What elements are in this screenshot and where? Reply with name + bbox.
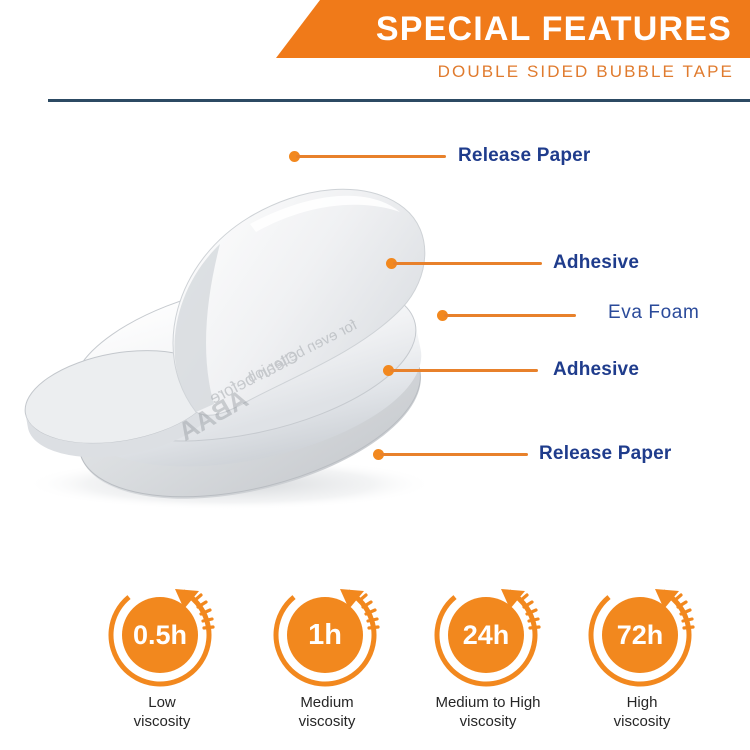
header-banner: SPECIAL FEATURES <box>276 0 750 58</box>
timer-value-2: 24h <box>463 620 510 650</box>
timer-caption-line2-1: viscosity <box>242 712 412 731</box>
page-title: SPECIAL FEATURES <box>276 0 750 58</box>
timer-caption-line2-3: viscosity <box>557 712 727 731</box>
callout-line-adhesive-bottom <box>390 369 538 372</box>
callout-label-adhesive-top: Adhesive <box>553 252 639 274</box>
header: SPECIAL FEATURES DOUBLE SIDED BUBBLE TAP… <box>0 0 750 110</box>
callout-line-adhesive-top <box>393 262 542 265</box>
callout-line-release-paper-top <box>296 155 446 158</box>
timer-item-1: 1h Medium viscosity <box>242 575 412 731</box>
timer-icon-1: 1h <box>267 575 387 687</box>
timer-caption-line1-0: Low <box>77 693 247 712</box>
timer-icon-2: 24h <box>428 575 548 687</box>
callout-line-release-paper-bottom <box>380 453 528 456</box>
timer-value-3: 72h <box>617 620 664 650</box>
header-divider-line <box>48 99 750 102</box>
callout-label-eva-foam: Eva Foam <box>608 302 699 324</box>
viscosity-timer-row: 0.5h Low viscosity 1h <box>0 575 750 750</box>
timer-caption-0: Low viscosity <box>77 693 247 731</box>
timer-caption-line2-2: viscosity <box>403 712 573 731</box>
timer-caption-line1-3: High <box>557 693 727 712</box>
timer-caption-line2-0: viscosity <box>77 712 247 731</box>
timer-value-1: 1h <box>308 619 342 651</box>
timer-icon-0: 0.5h <box>102 575 222 687</box>
infographic-page: SPECIAL FEATURES DOUBLE SIDED BUBBLE TAP… <box>0 0 750 750</box>
product-photo: GUG for even better job <box>0 112 470 512</box>
callout-line-eva-foam <box>444 314 576 317</box>
timer-item-2: 24h Medium to High viscosity <box>403 575 573 731</box>
timer-caption-line1-1: Medium <box>242 693 412 712</box>
callout-label-release-paper-top: Release Paper <box>458 145 591 167</box>
header-subtitle: DOUBLE SIDED BUBBLE TAPE <box>438 62 734 82</box>
timer-caption-line1-2: Medium to High <box>403 693 573 712</box>
callout-label-adhesive-bottom: Adhesive <box>553 359 639 381</box>
timer-value-0: 0.5h <box>133 620 187 650</box>
timer-caption-2: Medium to High viscosity <box>403 693 573 731</box>
timer-caption-3: High viscosity <box>557 693 727 731</box>
callout-label-release-paper-bottom: Release Paper <box>539 443 672 465</box>
timer-item-3: 72h High viscosity <box>557 575 727 731</box>
timer-item-0: 0.5h Low viscosity <box>77 575 247 731</box>
timer-caption-1: Medium viscosity <box>242 693 412 731</box>
timer-icon-3: 72h <box>582 575 702 687</box>
